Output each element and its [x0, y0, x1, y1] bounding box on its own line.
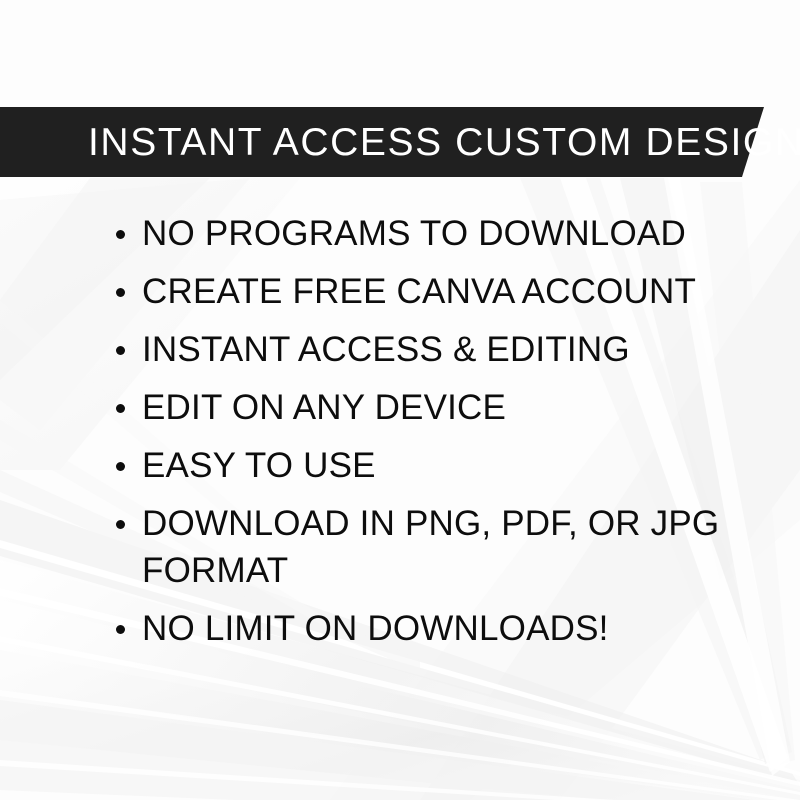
- list-item-label: NO PROGRAMS TO DOWNLOAD: [142, 210, 752, 257]
- page-title: INSTANT ACCESS CUSTOM DESIGNS: [88, 107, 800, 177]
- list-item: CREATE FREE CANVA ACCOUNT: [112, 268, 752, 315]
- bullet-dot-icon: [116, 230, 125, 239]
- list-item-label: NO LIMIT ON DOWNLOADS!: [142, 605, 752, 652]
- list-item: NO PROGRAMS TO DOWNLOAD: [112, 210, 752, 257]
- list-item: NO LIMIT ON DOWNLOADS!: [112, 605, 752, 652]
- bullet-dot-icon: [116, 404, 125, 413]
- banner: INSTANT ACCESS CUSTOM DESIGNS: [0, 107, 800, 177]
- bullet-dot-icon: [116, 520, 125, 529]
- bullet-dot-icon: [116, 288, 125, 297]
- promo-graphic: INSTANT ACCESS CUSTOM DESIGNS NO PROGRAM…: [0, 0, 800, 800]
- bullet-dot-icon: [116, 462, 125, 471]
- list-item-label: DOWNLOAD IN PNG, PDF, OR JPG FORMAT: [142, 500, 752, 594]
- feature-list: NO PROGRAMS TO DOWNLOAD CREATE FREE CANV…: [112, 210, 752, 663]
- list-item-label: EASY TO USE: [142, 442, 752, 489]
- list-item-label: CREATE FREE CANVA ACCOUNT: [142, 268, 752, 315]
- list-item: DOWNLOAD IN PNG, PDF, OR JPG FORMAT: [112, 500, 752, 594]
- bullet-dot-icon: [116, 346, 125, 355]
- list-item: EASY TO USE: [112, 442, 752, 489]
- list-item-label: INSTANT ACCESS & EDITING: [142, 326, 752, 373]
- list-item-label: EDIT ON ANY DEVICE: [142, 384, 752, 431]
- list-item: EDIT ON ANY DEVICE: [112, 384, 752, 431]
- bullet-dot-icon: [116, 625, 125, 634]
- list-item: INSTANT ACCESS & EDITING: [112, 326, 752, 373]
